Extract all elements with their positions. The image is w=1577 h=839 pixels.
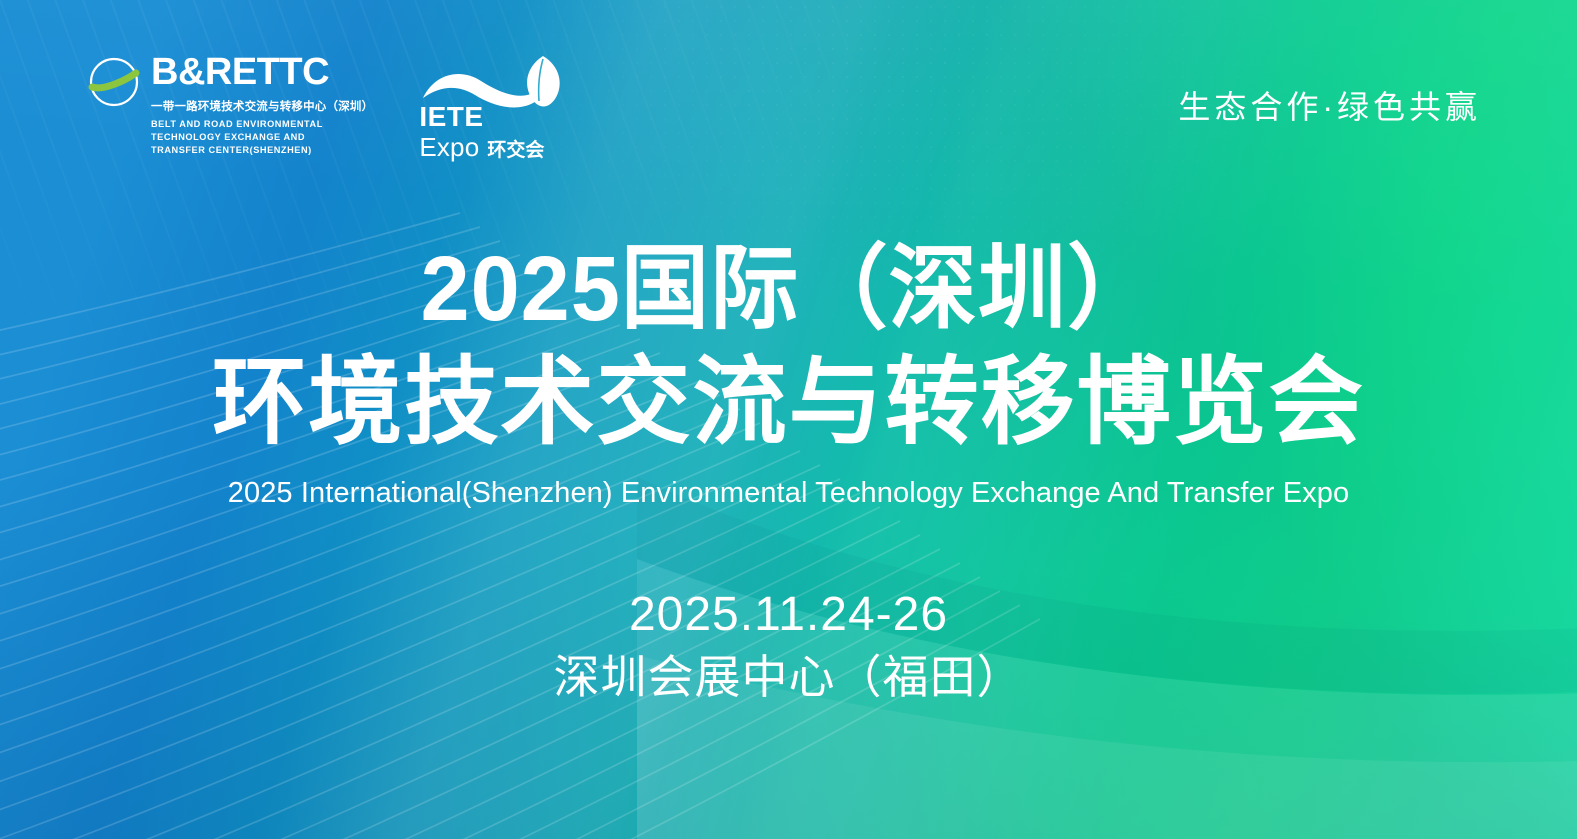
globe-icon <box>88 56 140 113</box>
event-title-line2: 环境技术交流与转移博览会 <box>16 355 1561 451</box>
iete-text-block: IETE Expo 环交会 <box>419 103 544 160</box>
event-date: 2025.11.24-26 <box>0 587 1577 644</box>
logo-group: B&RETTC 一带一路环境技术交流与转移中心（深圳） BELT AND ROA… <box>88 51 577 159</box>
event-venue: 深圳会展中心（福田） <box>0 650 1577 704</box>
iete-chinese-short: 环交会 <box>487 141 544 160</box>
banner-main: 2025国际（深圳） 环境技术交流与转移博览会 2025 Internation… <box>0 243 1577 704</box>
brettc-english-name: BELT AND ROAD ENVIRONMENTAL TECHNOLOGY E… <box>151 118 361 157</box>
event-title-line1: 2025国际（深圳） <box>32 243 1546 335</box>
brettc-chinese-name: 一带一路环境技术交流与转移中心（深圳） <box>151 98 373 114</box>
event-subtitle-english: 2025 International(Shenzhen) Environment… <box>0 477 1577 510</box>
iete-wordmark: IETE <box>419 101 483 132</box>
iete-expo-word: Expo <box>419 134 479 160</box>
banner-header: B&RETTC 一带一路环境技术交流与转移中心（深圳） BELT AND ROA… <box>0 0 1577 210</box>
brettc-wordmark: B&RETTC <box>151 53 373 91</box>
iete-expo-logo[interactable]: IETE Expo 环交会 <box>413 51 577 159</box>
brettc-text-block: B&RETTC 一带一路环境技术交流与转移中心（深圳） BELT AND ROA… <box>151 53 373 157</box>
event-banner: B&RETTC 一带一路环境技术交流与转移中心（深圳） BELT AND ROA… <box>0 0 1577 839</box>
header-slogan: 生态合作·绿色共赢 <box>1178 82 1481 128</box>
iete-subline: Expo 环交会 <box>419 134 544 160</box>
brettc-logo[interactable]: B&RETTC 一带一路环境技术交流与转移中心（深圳） BELT AND ROA… <box>88 53 373 157</box>
